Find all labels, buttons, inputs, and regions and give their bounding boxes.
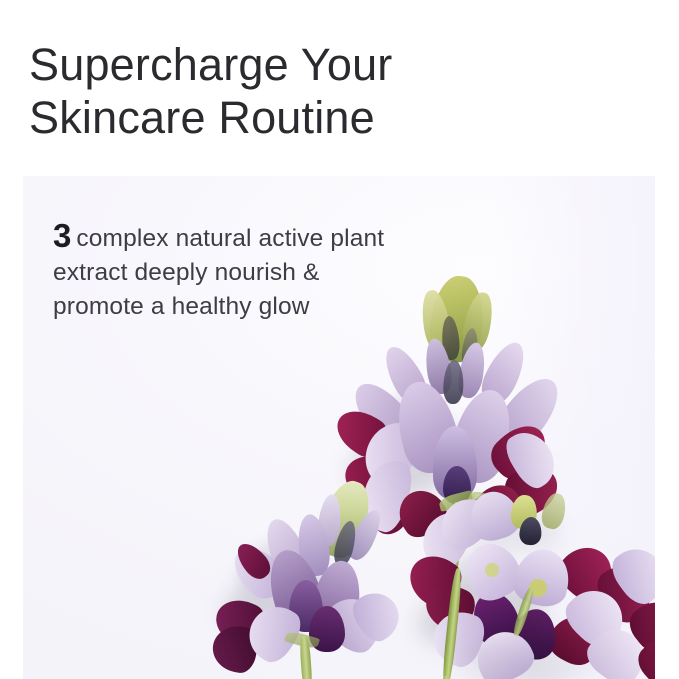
body-copy-line-3: promote a healthy glow	[53, 290, 503, 324]
flower-lr-center-yellow-2	[539, 491, 569, 531]
page-title-line-1: Supercharge Your	[29, 38, 629, 91]
hero-photo-panel: 3complex natural active plant extract de…	[23, 176, 655, 679]
body-copy-line-1: 3complex natural active plant	[53, 218, 503, 256]
flower-lower-left	[223, 476, 438, 679]
hero-body-copy: 3complex natural active plant extract de…	[53, 218, 503, 324]
body-copy-line-2: extract deeply nourish &	[53, 256, 503, 290]
page-title-line-2: Skincare Routine	[29, 91, 629, 144]
body-copy-line-1-text: complex natural active plant	[76, 225, 384, 252]
flower-lr-center-dot-2	[485, 563, 499, 577]
page-title: Supercharge Your Skincare Routine	[29, 38, 629, 144]
lead-number: 3	[53, 217, 71, 254]
